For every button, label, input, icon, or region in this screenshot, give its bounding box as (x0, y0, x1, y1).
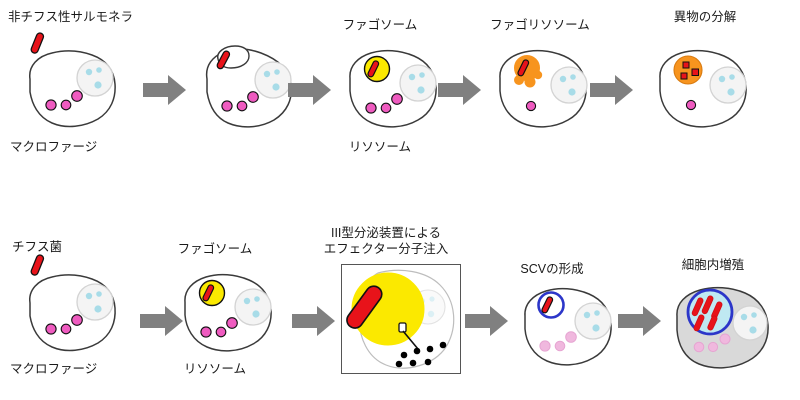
top-step-5-label: 異物の分解 (650, 10, 760, 25)
nucleus-icon (733, 306, 767, 340)
top-step-3-lysosome-label: リソソーム (325, 140, 435, 155)
phagosome-icon (365, 57, 390, 82)
top-arrow-1 (143, 74, 187, 106)
bottom-step-1-graphic (8, 250, 148, 365)
top-step-1-graphic (8, 26, 148, 141)
bottom-step-2-graphic (165, 254, 305, 366)
nucleus-icon (235, 289, 271, 325)
nucleus-icon (77, 284, 113, 320)
top-step-1-label: 非チフス性サルモネラ (8, 10, 158, 25)
scv-icon-enlarged (688, 290, 732, 334)
degradation-vesicle-icon (674, 56, 702, 84)
top-step-1-cell-label: マクロファージ (10, 140, 150, 155)
bottom-arrow-3 (465, 305, 509, 337)
figure-canvas: 非チフス性サルモネラ マクロファージ ファゴソーム リソソーム ファゴリソソーム… (0, 0, 800, 400)
nucleus-icon (400, 65, 436, 101)
top-arrow-3 (438, 74, 482, 106)
nucleus-icon (710, 67, 746, 103)
nucleus-icon (77, 60, 113, 96)
top-step-5-graphic (635, 28, 785, 140)
bottom-arrow-2 (292, 305, 336, 337)
lysosome-group (686, 100, 695, 109)
bottom-step-5-graphic (655, 270, 800, 385)
bacterium-icon (30, 32, 44, 54)
scv-icon (539, 293, 564, 318)
top-arrow-2 (288, 74, 332, 106)
nucleus-icon (551, 67, 587, 103)
top-arrow-4 (590, 74, 634, 106)
nucleus-icon (255, 62, 291, 98)
nucleus-icon (575, 303, 611, 339)
lysosome-group (526, 101, 535, 110)
phagosome-icon (200, 281, 225, 306)
bottom-step-3-label: III型分泌装置による エフェクター分子注入 (306, 225, 466, 257)
bacterium-icon (30, 254, 44, 276)
t3ss-inset-panel (341, 264, 461, 374)
